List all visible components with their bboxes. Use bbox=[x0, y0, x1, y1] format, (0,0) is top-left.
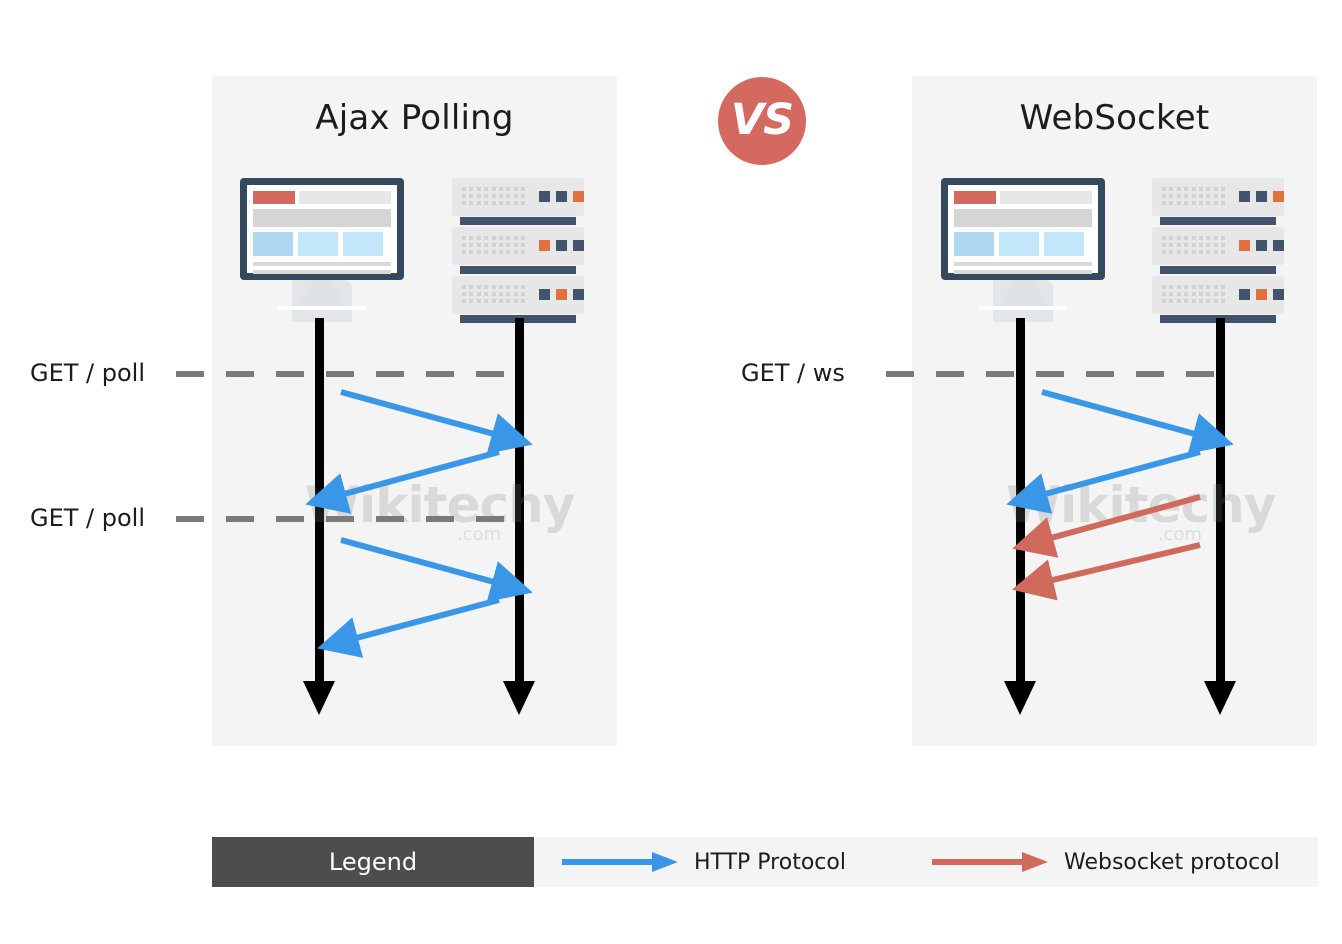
legend-bar: Legend HTTP Protocol Websocket protocol bbox=[212, 837, 1318, 887]
diagram-canvas: Ajax Polling Wikitechy .com G bbox=[0, 0, 1342, 944]
legend-websocket-label: Websocket protocol bbox=[1064, 850, 1280, 875]
legend-http-label: HTTP Protocol bbox=[694, 850, 846, 875]
legend-item-http: HTTP Protocol bbox=[560, 837, 846, 887]
legend-title-box: Legend bbox=[212, 837, 534, 887]
ws-arrow-2 bbox=[1034, 452, 1200, 497]
legend-item-websocket: Websocket protocol bbox=[930, 837, 1280, 887]
legend-http-arrow-icon bbox=[560, 849, 682, 875]
ws-arrow-4 bbox=[1040, 545, 1200, 583]
ws-arrow-3 bbox=[1040, 497, 1200, 541]
ws-message-arrows bbox=[0, 0, 1342, 944]
ws-arrow-1 bbox=[1042, 392, 1206, 437]
legend-title-label: Legend bbox=[329, 848, 417, 876]
legend-websocket-arrow-icon bbox=[930, 849, 1052, 875]
